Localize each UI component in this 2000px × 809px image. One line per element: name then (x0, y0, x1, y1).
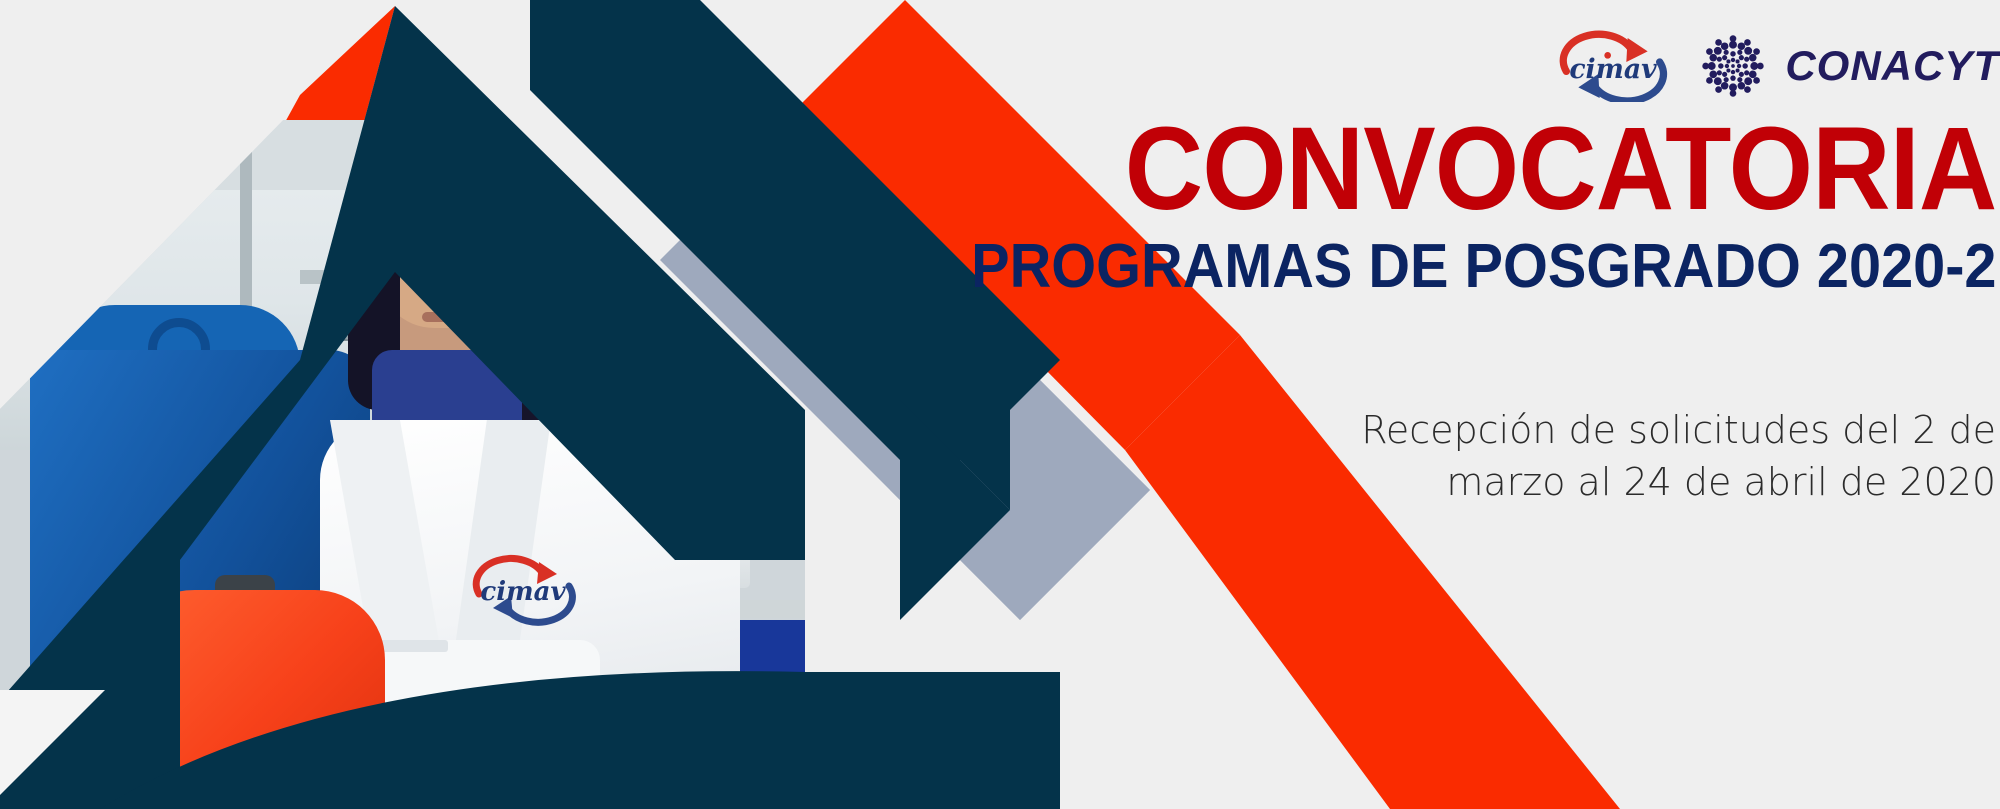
dates-line-2: marzo al 24 de abril de 2020 (1446, 460, 1996, 504)
content-block: cimav (1040, 0, 2000, 809)
conacyt-dots-icon (1695, 28, 1771, 104)
teal-bottom-block (100, 671, 1060, 809)
headline-convocatoria: CONVOCATORIA (1124, 110, 1996, 228)
conacyt-logo[interactable]: CONACYT (1695, 28, 2000, 104)
headline-programas: PROGRAMAS DE POSGRADO 2020-2 (971, 236, 1996, 298)
dates-text: Recepción de solicitudes del 2 de marzo … (1296, 404, 1996, 509)
conacyt-wordmark: CONACYT (1785, 42, 2000, 90)
logo-row: cimav (1553, 28, 2000, 104)
svg-text:cimav: cimav (1570, 54, 1658, 85)
dates-line-1: Recepción de solicitudes del 2 de (1361, 408, 1996, 452)
convocatoria-banner: cimav (0, 0, 2000, 809)
cimav-logo-icon[interactable]: cimav (1553, 30, 1673, 102)
